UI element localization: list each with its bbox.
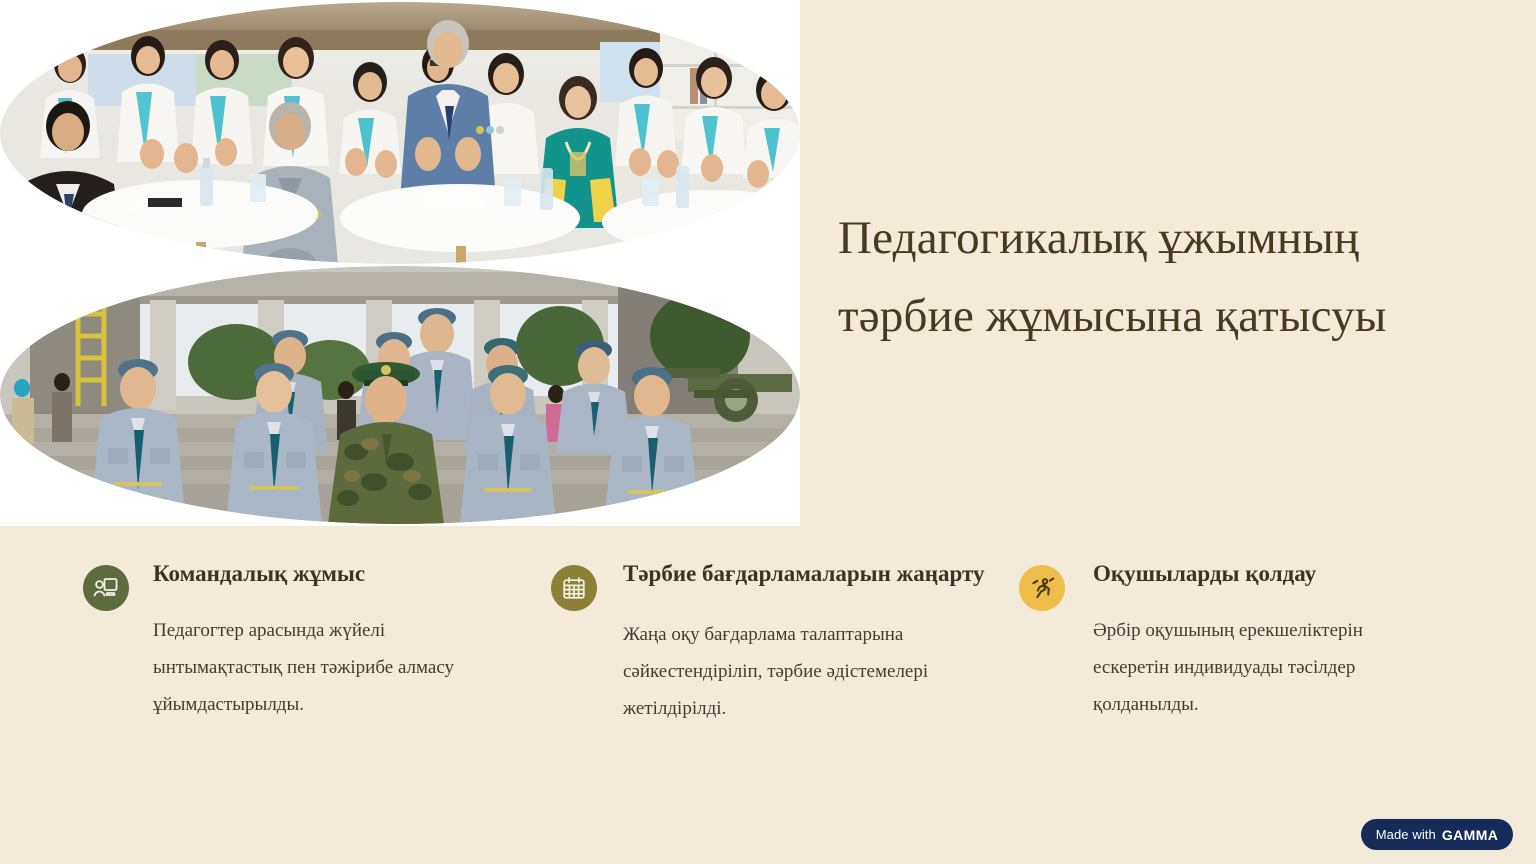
- feature-columns: Командалық жұмыс Педагогтер арасында жүй…: [0, 556, 1536, 806]
- feature-body: Педагогтер арасында жүйелі ынтымақтастық…: [153, 612, 498, 723]
- feature-column-support: Оқушыларды қолдау Әрбір оқушының ерекшел…: [1019, 556, 1419, 742]
- slide-title: Педагогикалық ұжымның тәрбие жұмысына қа…: [838, 199, 1458, 355]
- calendar-icon: [551, 565, 597, 611]
- feature-column-teamwork: Командалық жұмыс Педагогтер арасында жүй…: [83, 556, 483, 742]
- photo-cadets-formation-image: [0, 266, 800, 524]
- feature-title: Командалық жұмыс: [153, 556, 483, 592]
- feature-body: Әрбір оқушының ерекшеліктерін ескеретін …: [1093, 612, 1393, 723]
- photo-school-gathering-image: [0, 2, 800, 264]
- made-with-gamma-badge[interactable]: Made with GAMMA: [1361, 819, 1513, 850]
- media-panel: [0, 0, 800, 526]
- feature-heading-support: Оқушыларды қолдау: [1019, 556, 1419, 602]
- gamma-wordmark: GAMMA: [1442, 827, 1498, 843]
- photo-school-gathering: [0, 2, 800, 264]
- feature-body: Жаңа оқу бағдарлама талаптарына сәйкесте…: [623, 616, 995, 727]
- presentation-person-icon: [83, 565, 129, 611]
- feature-heading-programs: Тәрбие бағдарламаларын жаңарту: [551, 556, 991, 602]
- feature-title: Тәрбие бағдарламаларын жаңарту: [623, 556, 991, 592]
- presentation-slide: Педагогикалық ұжымның тәрбие жұмысына қа…: [0, 0, 1536, 864]
- feature-heading-teamwork: Командалық жұмыс: [83, 556, 483, 602]
- feature-title: Оқушыларды қолдау: [1093, 556, 1419, 592]
- photo-cadets-formation: [0, 266, 800, 524]
- made-with-label: Made with: [1376, 827, 1436, 842]
- running-person-icon: [1019, 565, 1065, 611]
- feature-column-programs: Тәрбие бағдарламаларын жаңарту Жаңа оқу …: [551, 556, 991, 746]
